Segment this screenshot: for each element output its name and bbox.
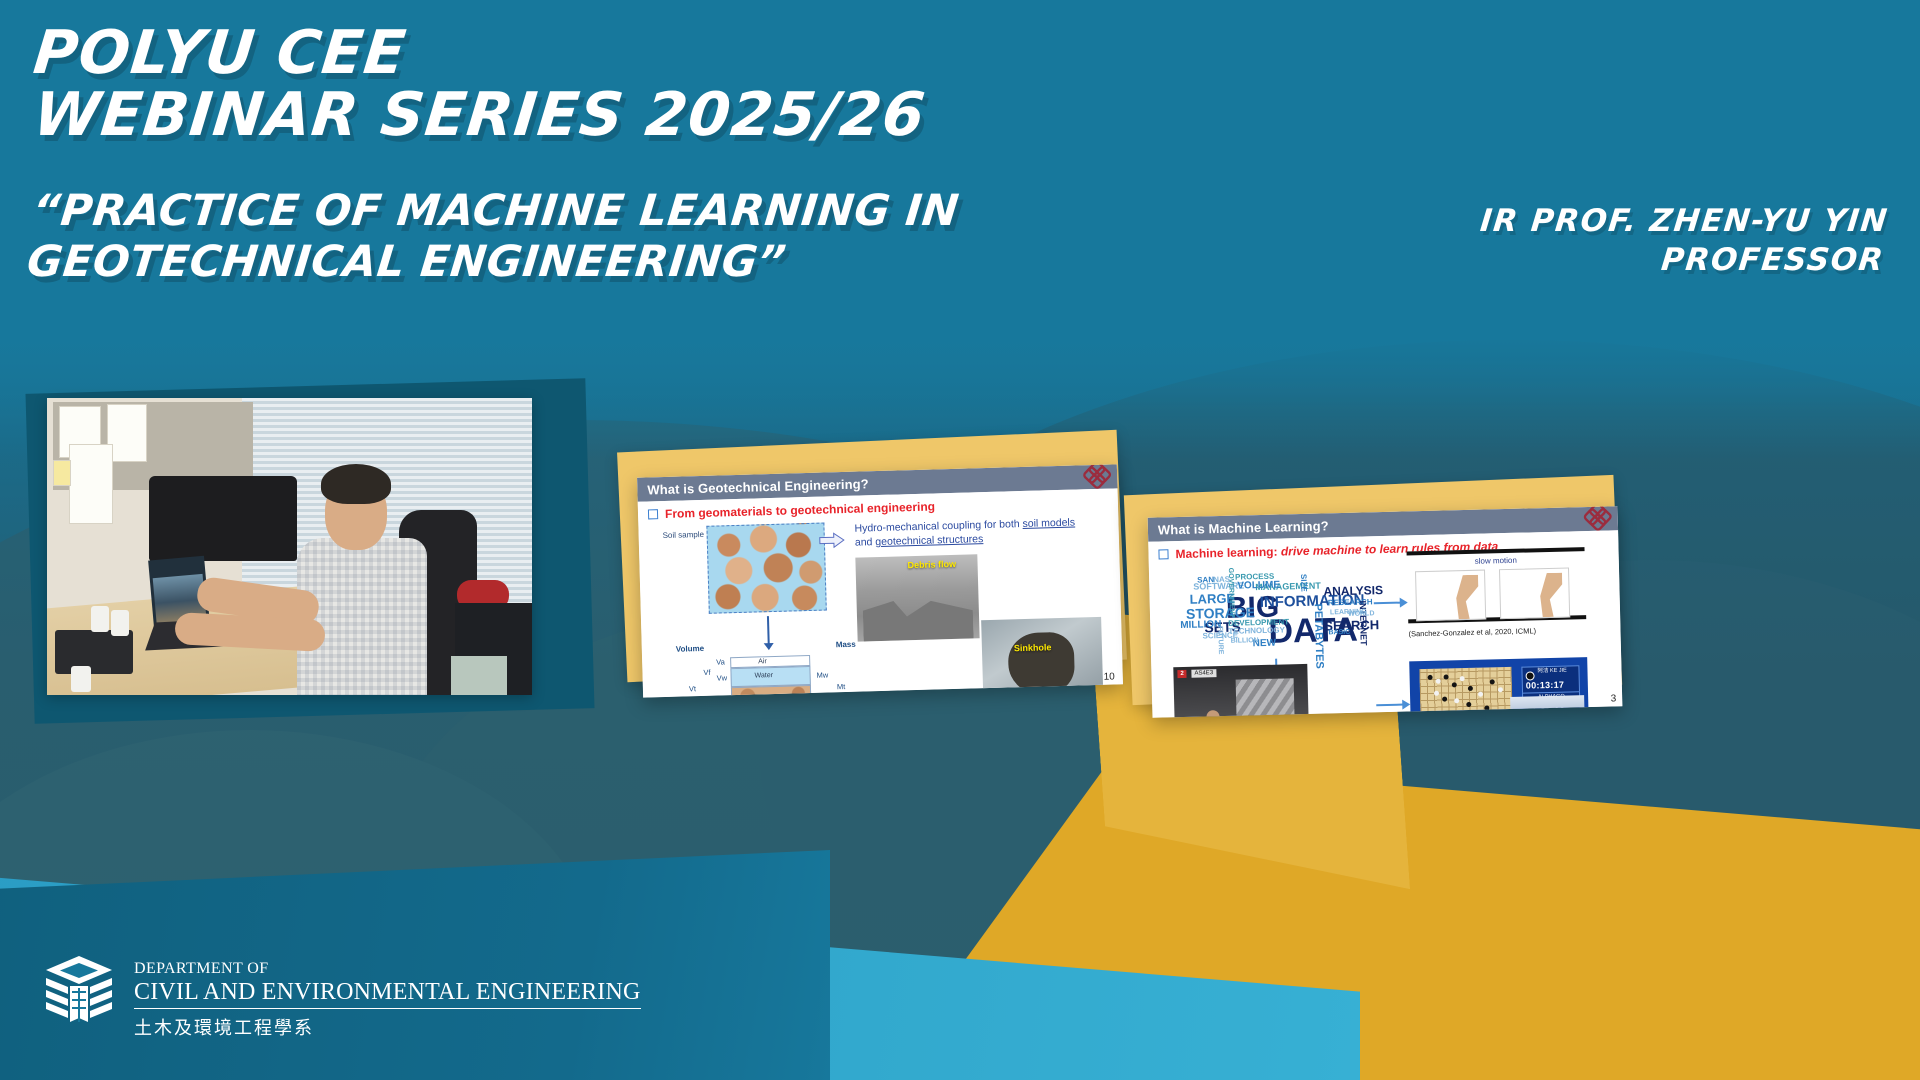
slide2-page-number: 3 (1610, 693, 1616, 704)
wordcloud-word-petabytes: PETABYTES (1312, 604, 1325, 669)
slow-motion-caption: slow motion (1407, 554, 1585, 567)
right-text-link2[interactable]: geotechnical structures (875, 533, 983, 548)
speaker-block: IR PROF. ZHEN-YU YIN PROFESSOR (1262, 202, 1890, 280)
wordcloud-word-future: FUTURE (1216, 626, 1224, 655)
slide2-bullet-prefix: Machine learning: (1175, 545, 1281, 562)
right-text-part1: Hydro-mechanical coupling for both (854, 518, 1022, 535)
wordcloud-word-analysis: ANALYSIS (1323, 584, 1383, 597)
arrow-to-slow-motion-icon (1374, 602, 1402, 605)
poster-subtitle: “PRACTICE OF MACHINE LEARNING IN GEOTECH… (25, 186, 1036, 288)
down-arrow-icon (767, 616, 769, 644)
wordcloud-word-size: SIZE (1299, 574, 1307, 592)
escalator-video-frame: 2 AS4E3 (1173, 664, 1309, 718)
poster-headline: POLYU CEE WEBINAR SERIES 2025/26 (34, 22, 1074, 146)
slide1[interactable]: What is Geotechnical Engineering? From g… (637, 464, 1123, 697)
phase-diagram: Volume Mass Air Water Solids Va Vw Vf Vs… (676, 642, 858, 698)
slide-card-machine-learning: What is Machine Learning? Machine learni… (1150, 495, 1630, 695)
slide2[interactable]: What is Machine Learning? Machine learni… (1148, 506, 1623, 717)
slide2-title: What is Machine Learning? (1148, 518, 1329, 537)
checkbox-bullet-icon (1158, 549, 1168, 559)
wordcloud-word-world: WORLD (1348, 610, 1375, 618)
wordcloud-word-internet: INTERNET (1358, 600, 1368, 645)
slow-motion-panel: slow motion (1407, 547, 1587, 623)
sinkhole-caption: Sinkhole (1014, 642, 1052, 653)
checkbox-bullet-icon (648, 509, 658, 519)
department-line-1: Department of (134, 960, 641, 978)
subtitle-line-2: GEOTECHNICAL ENGINEERING” (25, 237, 1030, 288)
wordcloud-word-san: SAN (1197, 576, 1214, 584)
subtitle-line-1: “PRACTICE OF MACHINE LEARNING IN (30, 186, 1035, 237)
right-arrow-icon (819, 532, 845, 549)
department-line-2: Civil and Environmental Engineering (134, 978, 641, 1009)
department-logo-block: Department of Civil and Environmental En… (42, 954, 641, 1040)
phase-layer-air: Air (758, 658, 767, 665)
video-label-icon: AS4E3 (1191, 669, 1216, 678)
department-line-3-chinese: 土木及環境工程學系 (134, 1014, 641, 1040)
right-text-link1[interactable]: soil models (1022, 517, 1075, 530)
phase-mass-heading: Mass (836, 640, 856, 650)
soil-sample-label: Soil sample (663, 530, 705, 540)
speaker-name: IR PROF. ZHEN-YU YIN (1266, 202, 1890, 241)
phase-label-mw: Mw (816, 670, 828, 679)
headline-line-2: WEBINAR SERIES 2025/26 (31, 84, 1078, 146)
wordcloud-word-nas: NAS (1213, 576, 1230, 584)
soil-sample-diagram (706, 523, 826, 614)
phase-label-vf: Vf (703, 668, 710, 677)
phase-label-va: Va (716, 657, 725, 666)
wordcloud-word-process: PROCESS (1235, 573, 1274, 582)
slide1-page-number: 10 (1103, 671, 1114, 682)
slide1-bullet-text: From geomaterials to geotechnical engine… (665, 499, 935, 521)
speaker-portrait-photo (47, 398, 532, 695)
right-text-part2: and (855, 536, 876, 549)
phase-label-vw: Vw (717, 673, 728, 682)
phase-layer-water: Water (755, 672, 774, 680)
slide-card-geotechnical: What is Geotechnical Engineering? From g… (640, 455, 1140, 685)
wordcloud-word-basic: BASIC (1328, 629, 1350, 637)
phase-label-vt: Vt (689, 684, 696, 693)
polyu-diamond-icon (1582, 506, 1613, 532)
video-badge-icon: 2 (1177, 670, 1187, 678)
polyu-diamond-icon (1082, 464, 1113, 490)
arrow-to-go-icon (1376, 704, 1404, 707)
slide1-title: What is Geotechnical Engineering? (637, 476, 869, 497)
phase-label-mt: Mt (837, 682, 846, 691)
big-data-word-cloud: BIG DATA INFORMATION ANALYSIS STORAGE LA… (1171, 560, 1373, 663)
slide1-right-text: Hydro-mechanical coupling for both soil … (854, 515, 1085, 549)
speaker-title: PROFESSOR (1262, 241, 1886, 280)
headline-line-1: POLYU CEE (31, 22, 1078, 84)
slow-motion-citation: (Sanchez-Gonzalez et al, 2020, ICML) (1408, 626, 1536, 638)
debris-flow-caption: Debris flow (907, 559, 956, 570)
player1-time: 00:13:17 (1526, 680, 1565, 691)
wordcloud-word-volume: VOLUME (1237, 581, 1280, 592)
phase-volume-heading: Volume (676, 644, 705, 654)
stacked-book-icon (42, 954, 116, 1024)
wordcloud-word-billion: BILLION (1231, 637, 1259, 645)
